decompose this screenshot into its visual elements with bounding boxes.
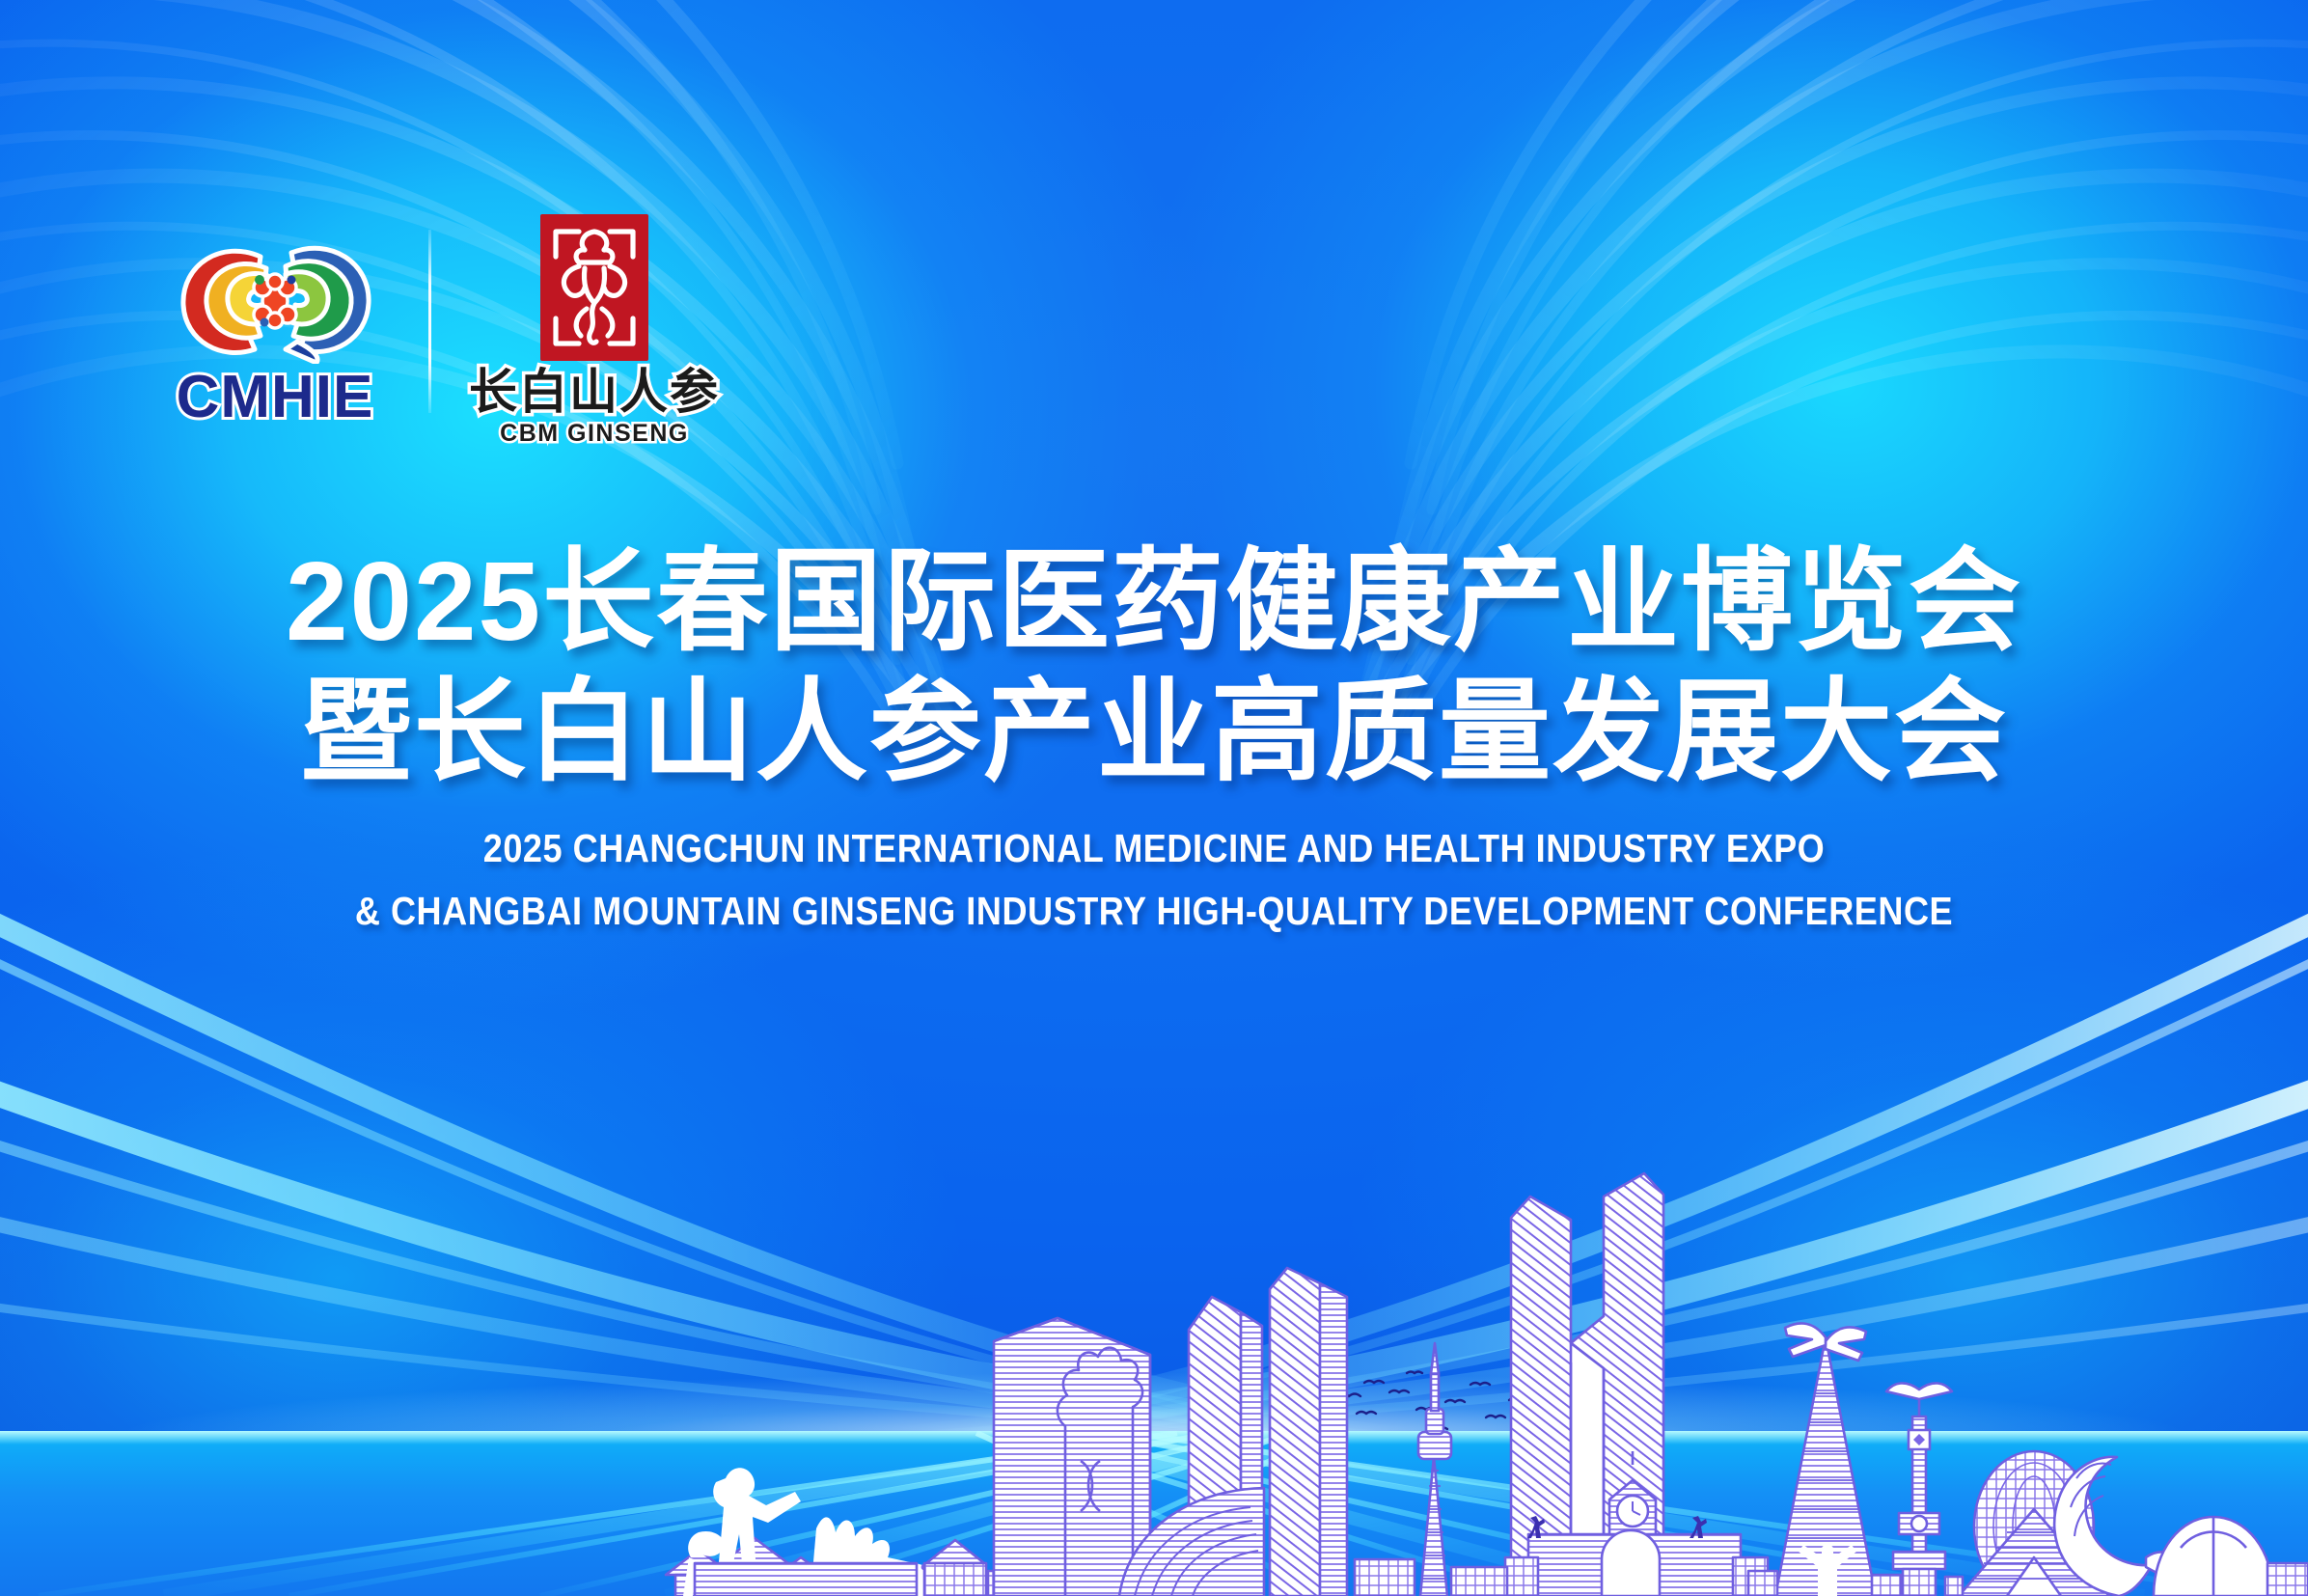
ginseng-logo[interactable]: 长白山人参 CBM GINSENG: [474, 214, 715, 446]
subtitle-english-line1: 2025 CHANGCHUN INTERNATIONAL MEDICINE AN…: [139, 821, 2170, 876]
title-chinese-line1: 2025长春国际医药健康产业博览会: [0, 537, 2308, 667]
cmhie-ribbon-logo-icon: [172, 234, 379, 364]
subtitle-english-line2: & CHANGBAI MOUNTAIN GINSENG INDUSTRY HIG…: [139, 884, 2170, 939]
title-chinese-line2: 暨长白山人参产业高质量发展大会: [0, 667, 2308, 797]
ground-plane: [0, 1431, 2308, 1596]
ginseng-root-seal-icon: [540, 214, 648, 361]
poster-canvas: CMHIE 长白山人参 CBM GINSENG: [0, 0, 2308, 1596]
title-block: 2025长春国际医药健康产业博览会 暨长白山人参产业高质量发展大会 2025 C…: [0, 537, 2308, 938]
cmhie-wordmark: CMHIE: [177, 368, 374, 427]
ginseng-chinese-name: 长白山人参: [469, 368, 720, 416]
logo-divider: [428, 230, 431, 413]
logo-row: CMHIE 长白山人参 CBM GINSENG: [164, 214, 715, 446]
ginseng-english-name: CBM GINSENG: [500, 422, 689, 446]
cmhie-logo[interactable]: CMHIE: [164, 234, 386, 427]
